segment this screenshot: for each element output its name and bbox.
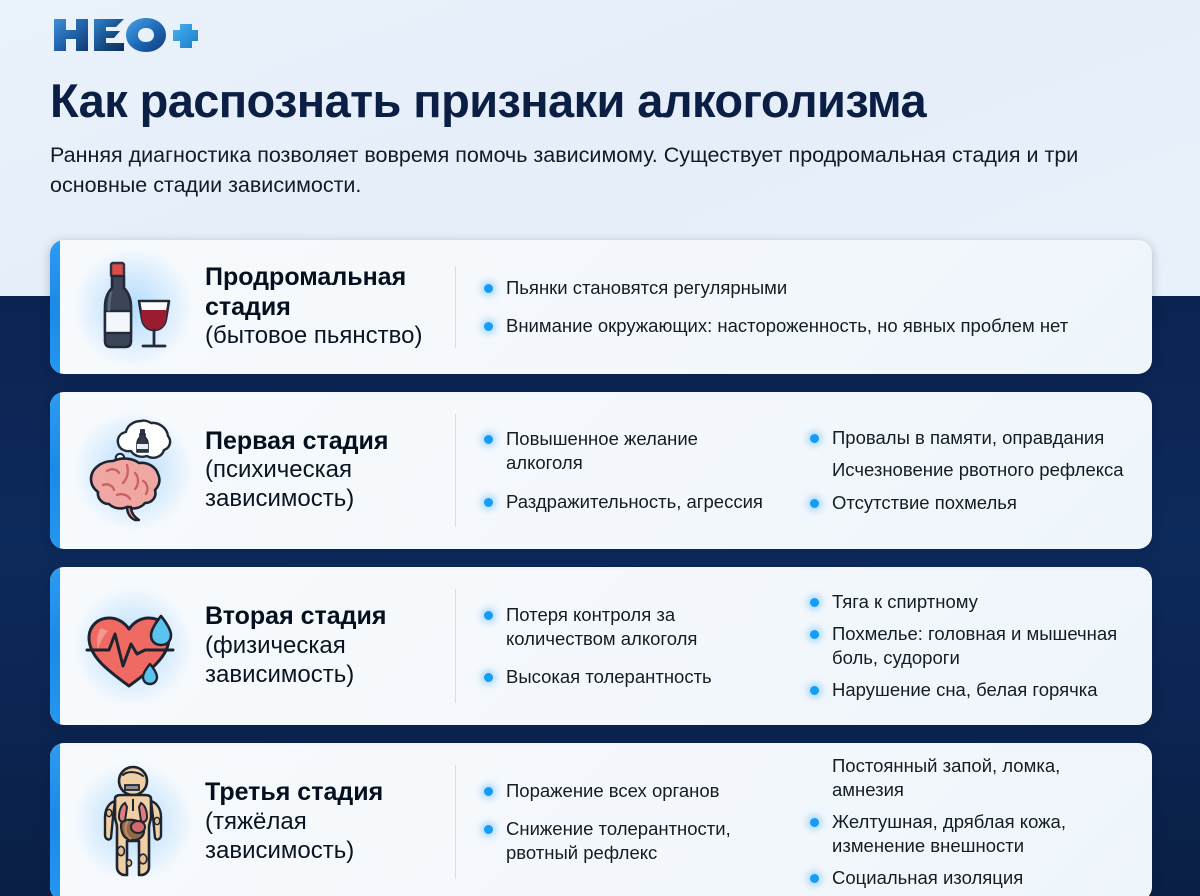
page-header: Как распознать признаки алкоголизма Ранн… [50,0,1160,201]
list-item: Тяга к спиртному [810,590,1130,614]
bullet-dot-icon [484,673,493,682]
list-item: Постоянный запой, ломка, амнезия [810,754,1130,802]
list-item-text: Тяга к спиртному [832,591,978,612]
bullet-dot-icon [810,686,819,695]
bullet-column: Постоянный запой, ломка, амнезия Желтушн… [782,750,1138,894]
list-item: Провалы в памяти, оправдания [810,426,1130,450]
card-title-sub: (психическая зависимость) [205,456,441,514]
human-body-organs-icon [81,763,185,881]
list-item-text: Исчезновение рвотного рефлекса [832,459,1124,480]
list-item-text: Потеря контроля за количеством алкоголя [506,604,697,649]
card-title-sub: (тяжёлая зависимость) [205,808,441,866]
card-title-strong: Третья стадия [205,778,441,808]
brain-with-thought-bubble-icon [77,415,189,527]
list-item: Исчезновение рвотного рефлекса [810,458,1130,482]
bullet-dot-icon [484,498,493,507]
bullet-dot-icon [484,435,493,444]
stage-card-second[interactable]: Вторая стадия (физическая зависимость) П… [50,567,1152,725]
card-columns: Потеря контроля за количеством алкоголя … [456,567,1152,725]
list-item-text: Провалы в памяти, оправдания [832,427,1104,448]
card-icon-wrap [50,392,205,549]
list-item: Внимание окружающих: настороженность, но… [484,314,1130,338]
card-title-strong: Продромальная стадия [205,263,441,322]
list-item-text: Похмелье: головная и мышечная боль, судо… [832,623,1117,668]
bullet-dot-icon [810,874,819,883]
list-item-text: Нарушение сна, белая горячка [832,679,1098,700]
card-icon-wrap [50,567,205,725]
bullet-column: Потеря контроля за количеством алкоголя … [456,596,782,696]
list-item: Похмелье: головная и мышечная боль, судо… [810,622,1130,670]
list-item-text: Социальная изоляция [832,867,1023,888]
bullet-column: Повышенное желание алкоголя Раздражитель… [456,420,782,520]
list-item: Социальная изоляция [810,866,1130,890]
list-item-text: Поражение всех органов [506,780,720,801]
card-title-strong: Первая стадия [205,427,441,457]
bullet-column: Провалы в памяти, оправдания Исчезновени… [782,422,1138,518]
bullet-dot-icon [484,611,493,620]
list-item: Повышенное желание алкоголя [484,427,774,475]
card-heading: Третья стадия (тяжёлая зависимость) [205,743,455,896]
heo-plus-logo-icon [50,15,202,55]
card-heading: Вторая стадия (физическая зависимость) [205,567,455,725]
bullet-dot-icon [810,434,819,443]
bullet-dot-icon [810,630,819,639]
bullet-dot-icon [484,825,493,834]
list-item: Потеря контроля за количеством алкоголя [484,603,774,651]
heart-with-pulse-and-drops-icon [77,594,189,698]
card-icon-wrap [50,240,205,374]
list-item-text: Внимание окружающих: настороженность, но… [506,315,1068,336]
list-item-text: Отсутствие похмелья [832,492,1017,513]
bullet-dot-icon [484,322,493,331]
card-heading: Первая стадия (психическая зависимость) [205,392,455,549]
bullet-dot-icon [484,787,493,796]
list-item: Желтушная, дряблая кожа, изменение внешн… [810,810,1130,858]
list-item-text: Пьянки становятся регулярными [506,277,787,298]
bullet-dot-icon [810,818,819,827]
card-title-strong: Вторая стадия [205,602,441,632]
bullet-dot-icon [810,499,819,508]
list-item: Высокая толерантность [484,665,774,689]
page-subtitle: Ранняя диагностика позволяет вовремя пом… [50,140,1110,201]
list-item-text: Повышенное желание алкоголя [506,428,698,473]
bullet-column: Тяга к спиртному Похмелье: головная и мы… [782,586,1138,706]
list-item-text: Постоянный запой, ломка, амнезия [832,755,1060,800]
card-title-sub: (физическая зависимость) [205,632,441,690]
stage-card-prodromal[interactable]: Продромальная стадия (бытовое пьянство) … [50,240,1152,374]
card-heading: Продромальная стадия (бытовое пьянство) [205,240,455,374]
bullet-dot-icon [810,598,819,607]
list-item-text: Высокая толерантность [506,666,712,687]
stage-card-third[interactable]: Третья стадия (тяжёлая зависимость) Пора… [50,743,1152,896]
list-item: Снижение толерантности, рвотный рефлекс [484,817,774,865]
brand-logo [50,14,1160,56]
bullet-dot-icon [484,284,493,293]
list-item-text: Раздражительность, агрессия [506,491,763,512]
card-title-sub: (бытовое пьянство) [205,322,441,351]
page-title: Как распознать признаки алкоголизма [50,76,1160,126]
list-item: Поражение всех органов [484,779,774,803]
bullet-column: Пьянки становятся регулярными Внимание о… [456,269,1138,345]
list-item-text: Снижение толерантности, рвотный рефлекс [506,818,731,863]
card-columns: Повышенное желание алкоголя Раздражитель… [456,392,1152,549]
list-item: Отсутствие похмелья [810,491,1130,515]
card-columns: Поражение всех органов Снижение толерант… [456,743,1152,896]
card-columns: Пьянки становятся регулярными Внимание о… [456,240,1152,374]
card-icon-wrap [50,743,205,896]
list-item-text: Желтушная, дряблая кожа, изменение внешн… [832,811,1066,856]
stage-card-first[interactable]: Первая стадия (психическая зависимость) … [50,392,1152,549]
list-item: Нарушение сна, белая горячка [810,678,1130,702]
wine-bottle-and-glass-icon [81,255,185,359]
list-item: Пьянки становятся регулярными [484,276,1130,300]
bullet-column: Поражение всех органов Снижение толерант… [456,772,782,872]
list-item: Раздражительность, агрессия [484,490,774,514]
